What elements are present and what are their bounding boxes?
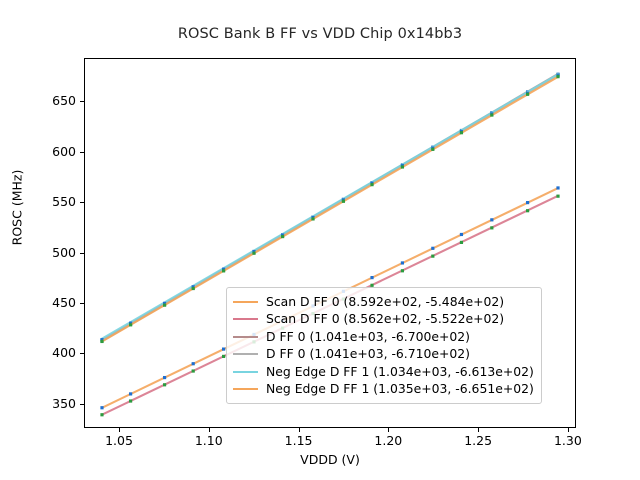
data-point-marker	[460, 233, 463, 236]
data-point-marker	[129, 323, 132, 326]
data-point-marker	[556, 195, 559, 198]
matplotlib-figure: ROSC Bank B FF vs VDD Chip 0x14bb3 ROSC …	[0, 0, 640, 480]
x-tick-label: 1.10	[195, 433, 223, 448]
data-point-marker	[490, 226, 493, 229]
legend-item[interactable]: Neg Edge D FF 1 (1.034e+03, -6.613e+02)	[233, 363, 534, 381]
data-point-marker	[526, 209, 529, 212]
x-tick-label: 1.25	[464, 433, 492, 448]
data-point-marker	[401, 261, 404, 264]
data-point-marker	[192, 362, 195, 365]
y-tick-label: 550	[34, 194, 76, 209]
data-point-marker	[281, 235, 284, 238]
y-tick-label: 500	[34, 245, 76, 260]
legend-label: D FF 0 (1.041e+03, -6.710e+02)	[266, 348, 470, 360]
x-tick-mark	[299, 428, 300, 432]
data-point-marker	[431, 247, 434, 250]
data-point-marker	[431, 148, 434, 151]
data-point-marker	[100, 413, 103, 416]
y-tick-label: 600	[34, 144, 76, 159]
legend-color-swatch	[233, 353, 258, 355]
legend-label: D FF 0 (1.041e+03, -6.700e+02)	[266, 331, 470, 343]
legend-label: Neg Edge D FF 1 (1.035e+03, -6.651e+02)	[266, 383, 534, 395]
x-tick-label: 1.30	[554, 433, 582, 448]
x-axis-label: VDDD (V)	[84, 452, 576, 467]
x-tick-label: 1.05	[105, 433, 133, 448]
x-tick-label: 1.20	[374, 433, 402, 448]
x-tick-mark	[568, 428, 569, 432]
legend-item[interactable]: Neg Edge D FF 1 (1.035e+03, -6.651e+02)	[233, 381, 534, 399]
data-point-marker	[192, 287, 195, 290]
data-point-marker	[252, 252, 255, 255]
legend-label: Neg Edge D FF 1 (1.034e+03, -6.613e+02)	[266, 366, 534, 378]
data-point-marker	[431, 255, 434, 258]
y-tick-label: 400	[34, 345, 76, 360]
legend-color-swatch	[233, 388, 258, 390]
data-point-marker	[163, 376, 166, 379]
legend-label: Scan D FF 0 (8.592e+02, -5.484e+02)	[266, 296, 504, 308]
data-point-marker	[163, 383, 166, 386]
data-point-marker	[490, 113, 493, 116]
legend-color-swatch	[233, 318, 258, 320]
data-point-marker	[460, 131, 463, 134]
x-tick-mark	[209, 428, 210, 432]
data-point-marker	[490, 218, 493, 221]
data-point-marker	[311, 217, 314, 220]
legend-item[interactable]: D FF 0 (1.041e+03, -6.700e+02)	[233, 328, 534, 346]
data-point-marker	[526, 201, 529, 204]
data-point-marker	[163, 304, 166, 307]
legend-color-swatch	[233, 336, 258, 338]
data-point-marker	[370, 183, 373, 186]
data-point-marker	[526, 93, 529, 96]
page-title: ROSC Bank B FF vs VDD Chip 0x14bb3	[0, 26, 640, 42]
y-tick-label: 350	[34, 396, 76, 411]
x-tick-mark	[478, 428, 479, 432]
y-axis-label: ROSC (MHz)	[10, 148, 25, 268]
data-point-marker	[342, 200, 345, 203]
data-point-marker	[222, 269, 225, 272]
data-point-marker	[222, 355, 225, 358]
data-point-marker	[556, 186, 559, 189]
data-point-marker	[222, 347, 225, 350]
data-point-marker	[100, 340, 103, 343]
data-point-marker	[556, 75, 559, 78]
y-tick-label: 650	[34, 93, 76, 108]
data-point-marker	[370, 276, 373, 279]
x-tick-mark	[388, 428, 389, 432]
x-tick-mark	[119, 428, 120, 432]
data-point-marker	[100, 406, 103, 409]
x-tick-label: 1.15	[285, 433, 313, 448]
legend[interactable]: Scan D FF 0 (8.592e+02, -5.484e+02)Scan …	[226, 287, 542, 404]
legend-label: Scan D FF 0 (8.562e+02, -5.522e+02)	[266, 313, 504, 325]
legend-item[interactable]: Scan D FF 0 (8.562e+02, -5.522e+02)	[233, 311, 534, 329]
legend-color-swatch	[233, 371, 258, 373]
y-tick-label: 450	[34, 295, 76, 310]
data-point-marker	[460, 241, 463, 244]
legend-color-swatch	[233, 301, 258, 303]
data-point-marker	[401, 269, 404, 272]
legend-item[interactable]: Scan D FF 0 (8.592e+02, -5.484e+02)	[233, 293, 534, 311]
legend-item[interactable]: D FF 0 (1.041e+03, -6.710e+02)	[233, 346, 534, 364]
data-point-marker	[401, 165, 404, 168]
data-point-marker	[129, 392, 132, 395]
data-point-marker	[129, 399, 132, 402]
data-point-marker	[192, 369, 195, 372]
